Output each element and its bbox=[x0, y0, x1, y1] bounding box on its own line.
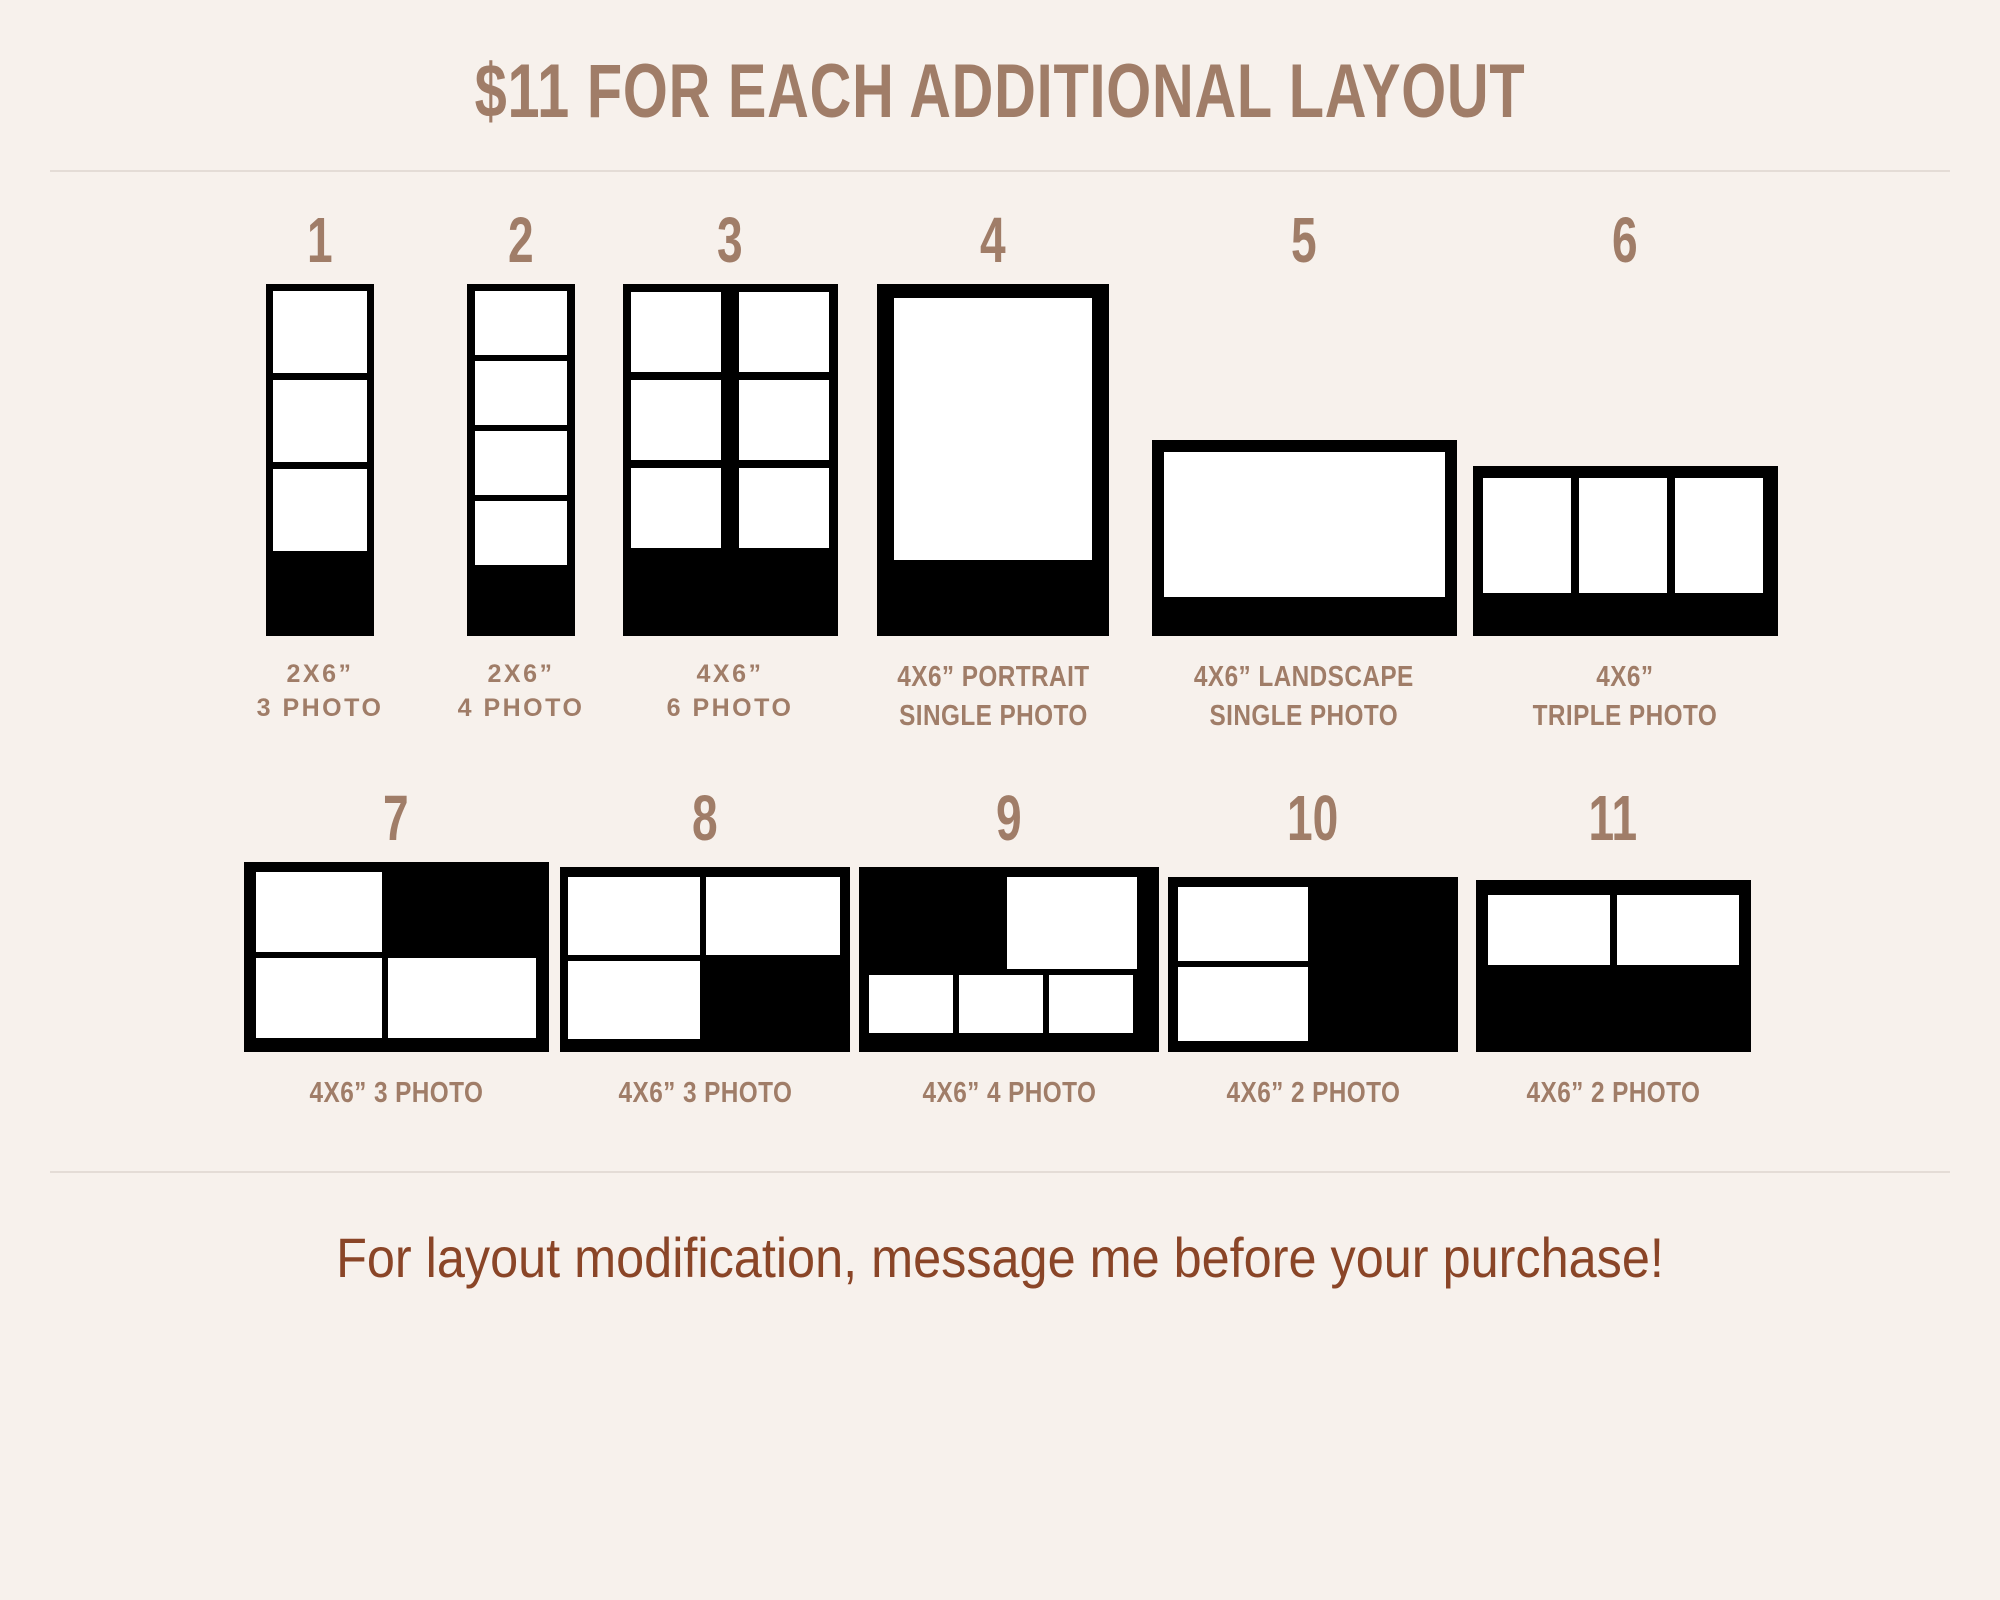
photo-slot bbox=[475, 501, 567, 565]
layout-number: 4 bbox=[980, 208, 1006, 272]
photo-slot bbox=[256, 958, 382, 1038]
frame-4x6-4photo bbox=[859, 867, 1159, 1052]
layout-pricing-graphic: $11 FOR EACH ADDITIONAL LAYOUT 1 2X6” 3 … bbox=[0, 0, 2000, 1600]
layout-card-11[interactable]: 11 4X6” 2 PHOTO bbox=[1463, 786, 1763, 1113]
frame-4x6-3photo-b bbox=[560, 867, 850, 1052]
layout-number: 5 bbox=[1291, 208, 1317, 272]
photo-slot bbox=[1178, 967, 1308, 1041]
layout-caption: 4X6” 3 PHOTO bbox=[618, 1074, 792, 1113]
layout-preview bbox=[560, 862, 850, 1052]
layout-preview bbox=[1476, 862, 1751, 1052]
photo-slot bbox=[568, 961, 700, 1039]
layout-card-8[interactable]: 8 4X6” 3 PHOTO bbox=[555, 786, 855, 1113]
footer-note: For layout modification, message me befo… bbox=[100, 1225, 1900, 1290]
photo-slot bbox=[475, 291, 567, 355]
layout-caption: 4X6” 2 PHOTO bbox=[1226, 1074, 1400, 1113]
frame-4x6-6photo bbox=[623, 284, 838, 636]
photo-slot bbox=[739, 292, 829, 372]
photo-slot bbox=[959, 975, 1043, 1033]
photo-slot bbox=[1483, 478, 1571, 593]
layout-caption: 4X6” LANDSCAPE SINGLE PHOTO bbox=[1194, 658, 1414, 736]
layout-number: 9 bbox=[996, 786, 1022, 850]
photo-slot bbox=[1579, 478, 1667, 593]
layout-caption: 4X6” 3 PHOTO bbox=[309, 1074, 483, 1113]
frame-4x6-2photo-a bbox=[1168, 877, 1458, 1052]
page-title: $11 FOR EACH ADDITIONAL LAYOUT bbox=[240, 54, 1760, 130]
layout-preview bbox=[623, 284, 838, 636]
layout-number: 10 bbox=[1287, 786, 1338, 850]
layout-preview bbox=[859, 862, 1159, 1052]
layout-preview bbox=[1168, 862, 1458, 1052]
frame-4x6-portrait-single bbox=[877, 284, 1109, 636]
photo-slot bbox=[273, 469, 367, 551]
layout-preview bbox=[1473, 284, 1778, 636]
layout-number: 1 bbox=[307, 208, 333, 272]
photo-slot bbox=[739, 468, 829, 548]
layout-number: 6 bbox=[1612, 208, 1638, 272]
photo-slot bbox=[894, 298, 1092, 560]
frame-2x6-3photo bbox=[266, 284, 374, 636]
layout-number: 3 bbox=[717, 208, 743, 272]
photo-slot bbox=[1675, 478, 1763, 593]
header-divider bbox=[50, 170, 1950, 172]
photo-slot bbox=[1617, 895, 1739, 965]
layout-card-6[interactable]: 6 4X6” TRIPLE PHOTO bbox=[1465, 208, 1785, 736]
photo-slot bbox=[1007, 877, 1137, 969]
layout-caption: 2X6” 4 PHOTO bbox=[458, 658, 585, 726]
photo-slot bbox=[631, 380, 721, 460]
layout-caption: 4X6” 2 PHOTO bbox=[1526, 1074, 1700, 1113]
photo-slot bbox=[475, 431, 567, 495]
layout-card-4[interactable]: 4 4X6” PORTRAIT SINGLE PHOTO bbox=[843, 208, 1143, 736]
layout-card-2[interactable]: 2 2X6” 4 PHOTO bbox=[425, 208, 617, 726]
photo-slot bbox=[1164, 452, 1445, 597]
photo-slot bbox=[869, 975, 953, 1033]
photo-slot bbox=[1488, 895, 1610, 965]
layout-number: 8 bbox=[692, 786, 718, 850]
layout-row-bottom: 7 4X6” 3 PHOTO 8 4X6” 3 PHOTO bbox=[0, 786, 2000, 1113]
photo-slot bbox=[1178, 887, 1308, 961]
frame-4x6-2photo-b bbox=[1476, 880, 1751, 1052]
header: $11 FOR EACH ADDITIONAL LAYOUT bbox=[0, 0, 2000, 130]
layout-preview bbox=[266, 284, 374, 636]
layout-card-7[interactable]: 7 4X6” 3 PHOTO bbox=[237, 786, 555, 1113]
photo-slot bbox=[475, 361, 567, 425]
layout-number: 2 bbox=[508, 208, 534, 272]
layout-card-5[interactable]: 5 4X6” LANDSCAPE SINGLE PHOTO bbox=[1143, 208, 1465, 736]
layout-caption: 2X6” 3 PHOTO bbox=[257, 658, 384, 726]
photo-slot bbox=[388, 958, 536, 1038]
photo-slot bbox=[631, 468, 721, 548]
photo-slot bbox=[739, 380, 829, 460]
layout-card-9[interactable]: 9 4X6” 4 PHOTO bbox=[855, 786, 1163, 1113]
layout-caption: 4X6” 6 PHOTO bbox=[667, 658, 794, 726]
photo-slot bbox=[273, 380, 367, 462]
layout-card-3[interactable]: 3 4X6” 6 PHOTO bbox=[617, 208, 843, 726]
layout-caption: 4X6” PORTRAIT SINGLE PHOTO bbox=[897, 658, 1089, 736]
layout-preview bbox=[467, 284, 575, 636]
photo-slot bbox=[568, 877, 700, 955]
layout-preview bbox=[1152, 284, 1457, 636]
frame-2x6-4photo bbox=[467, 284, 575, 636]
photo-slot bbox=[273, 291, 367, 373]
layout-number: 11 bbox=[1589, 786, 1638, 850]
layout-number: 7 bbox=[383, 786, 409, 850]
photo-slot bbox=[706, 877, 840, 955]
layout-card-1[interactable]: 1 2X6” 3 PHOTO bbox=[215, 208, 425, 726]
photo-slot bbox=[631, 292, 721, 372]
layout-row-top: 1 2X6” 3 PHOTO 2 2X6” 4 P bbox=[0, 208, 2000, 736]
layout-caption: 4X6” TRIPLE PHOTO bbox=[1533, 658, 1718, 736]
layout-card-10[interactable]: 10 4X6” 2 PHOTO bbox=[1163, 786, 1463, 1113]
footer-divider bbox=[50, 1171, 1950, 1173]
photo-slot bbox=[256, 872, 382, 952]
frame-4x6-3photo-a bbox=[244, 862, 549, 1052]
photo-slot bbox=[1049, 975, 1133, 1033]
layout-caption: 4X6” 4 PHOTO bbox=[922, 1074, 1096, 1113]
layout-preview bbox=[244, 862, 549, 1052]
frame-4x6-landscape-single bbox=[1152, 440, 1457, 636]
layout-preview bbox=[877, 284, 1109, 636]
frame-4x6-triple bbox=[1473, 466, 1778, 636]
